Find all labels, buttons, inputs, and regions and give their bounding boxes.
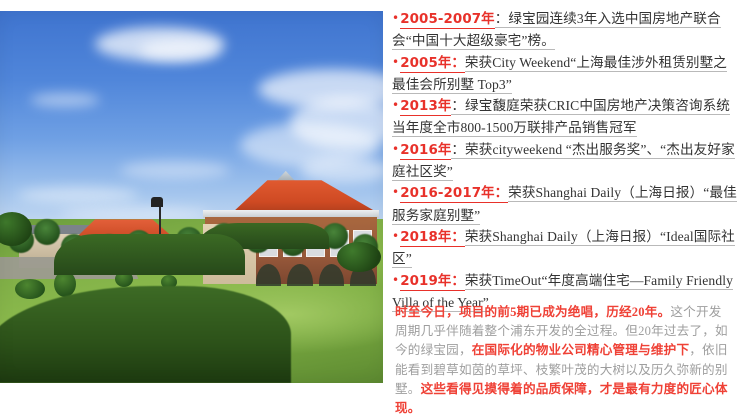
villa-photo <box>0 11 383 383</box>
bullet-icon: • <box>392 142 399 156</box>
awards-list: •2005-2007年：绿宝园连续3年入选中国房地产联合会“中国十大超级豪宅”榜… <box>392 8 740 313</box>
bullet-icon: • <box>392 98 399 112</box>
bullet-icon: • <box>392 185 399 199</box>
arch <box>256 264 281 287</box>
award-item: •2016-2017年：荣获Shanghai Daily（上海日报）“最佳服务家… <box>392 182 740 226</box>
award-item: •2018年：荣获Shanghai Daily（上海日报）“Ideal国际社区” <box>392 226 740 270</box>
closing-highlight-3: 在国际化的物业公司精心管理与维护下 <box>472 343 690 357</box>
award-year: 2005-2007年 <box>400 12 495 29</box>
bullet-icon: • <box>392 55 399 69</box>
cloud-shape <box>300 157 383 183</box>
award-year: 2016-2017年： <box>400 186 508 203</box>
award-item: •2013年：绿宝馥庭荣获CRIC中国房地产决策咨询系统当年度全市800-150… <box>392 95 740 139</box>
closing-highlight-5: 这些看得见摸得着的品质保障，才是最有力度的匠心体现。 <box>395 382 728 415</box>
award-item: •2005年：荣获City Weekend“上海最佳涉外租赁别墅之最佳会所别墅 … <box>392 52 740 96</box>
award-year: 2016年 <box>400 143 451 160</box>
award-year: 2013年 <box>400 99 451 116</box>
closing-paragraph: 时至今日，项目的前5期已成为绝唱，历经20年。这个开发周期几乎伴随着整个浦东开发… <box>395 303 733 418</box>
award-year: 2005年： <box>400 56 465 73</box>
award-item: •2005-2007年：绿宝园连续3年入选中国房地产联合会“中国十大超级豪宅”榜… <box>392 8 740 52</box>
award-item: •2016年：荣获cityweekend “杰出服务奖”、“杰出友好家庭社区奖” <box>392 139 740 183</box>
cloud-shape <box>30 93 100 107</box>
cloud-shape <box>140 39 220 61</box>
cloud-shape <box>120 161 230 179</box>
closing-highlight-1: 时至今日，项目的前5期已成为绝唱，历经20年。 <box>395 305 670 319</box>
arch <box>287 264 312 287</box>
bullet-icon: • <box>392 11 399 25</box>
bullet-icon: • <box>392 273 399 287</box>
tree <box>337 242 381 272</box>
cloud-shape <box>18 187 138 203</box>
award-year: 2018年： <box>400 230 465 247</box>
award-year: 2019年： <box>400 274 465 291</box>
building-roof <box>207 180 376 211</box>
hedge-row-mid <box>54 234 246 275</box>
shrub <box>15 279 45 299</box>
text-panel: •2005-2007年：绿宝园连续3年入选中国房地产联合会“中国十大超级豪宅”榜… <box>392 0 740 417</box>
street-lamp-head <box>151 197 163 207</box>
bullet-icon: • <box>392 229 399 243</box>
arch <box>319 264 344 287</box>
slide-root: •2005-2007年：绿宝园连续3年入选中国房地产联合会“中国十大超级豪宅”榜… <box>0 0 740 417</box>
